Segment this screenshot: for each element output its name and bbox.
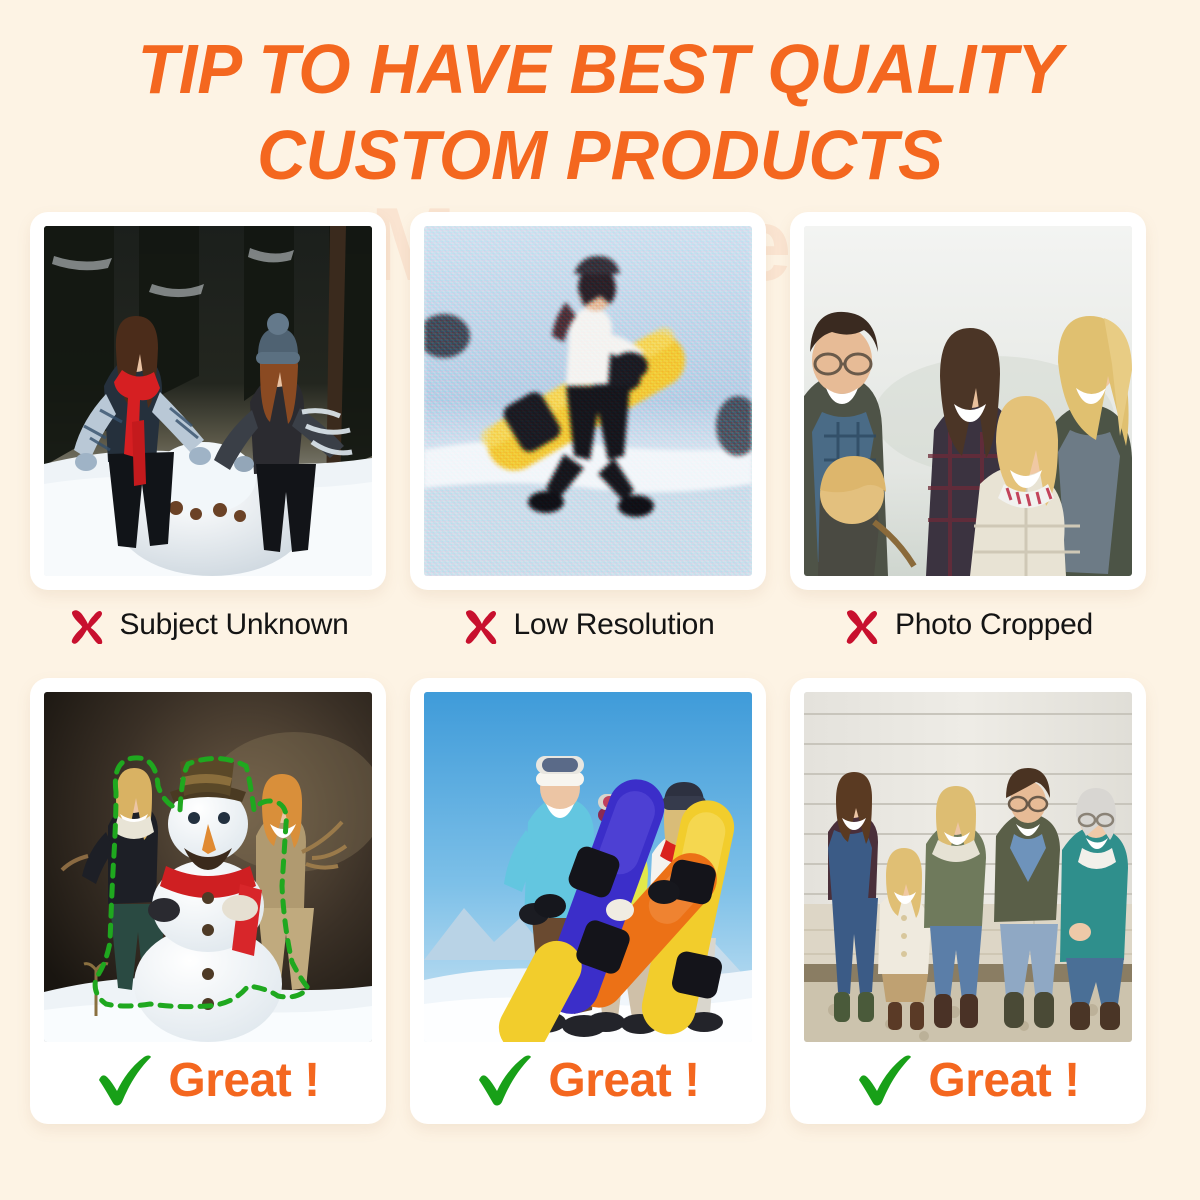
page-title-line-2: CUSTOM PRODUCTS (24, 112, 1176, 198)
caption-subject-unknown: Subject Unknown (30, 606, 386, 644)
page-title: TIP TO HAVE BEST QUALITY CUSTOM PRODUCTS (24, 0, 1176, 198)
photo-card (790, 212, 1146, 590)
photo-great-family (804, 692, 1132, 1042)
caption-low-resolution: Low Resolution (410, 606, 766, 644)
photo-low-resolution (424, 226, 752, 576)
example-cell-great-snowboarders: Great ! (410, 678, 766, 1124)
caption-photo-cropped: Photo Cropped (790, 606, 1146, 644)
page-title-line-1: TIP TO HAVE BEST QUALITY (24, 26, 1176, 112)
selection-outline (44, 692, 372, 1042)
caption-label: Great ! (548, 1053, 699, 1108)
example-cell-low-resolution: Low Resolution (410, 212, 766, 644)
red-cross-icon (843, 606, 881, 644)
caption-label: Great ! (928, 1053, 1079, 1108)
green-check-icon (856, 1052, 912, 1108)
photo-photo-cropped (804, 226, 1132, 576)
photo-subject-unknown (44, 226, 372, 576)
caption-great-snowboarders: Great ! (424, 1042, 752, 1116)
photo-card: Great ! (30, 678, 386, 1124)
caption-great-snowman: Great ! (44, 1042, 372, 1116)
caption-label: Low Resolution (514, 608, 715, 642)
example-cell-great-snowman: Great ! (30, 678, 386, 1124)
photo-card (410, 212, 766, 590)
photo-great-snowman (44, 692, 372, 1042)
photo-card: Great ! (790, 678, 1146, 1124)
photo-card: Great ! (410, 678, 766, 1124)
red-cross-icon (68, 606, 106, 644)
photo-great-snowboarders (424, 692, 752, 1042)
caption-label: Great ! (168, 1053, 319, 1108)
caption-label: Subject Unknown (120, 608, 349, 642)
noise-overlay (424, 226, 752, 576)
green-check-icon (476, 1052, 532, 1108)
photo-card (30, 212, 386, 590)
example-cell-photo-cropped: Photo Cropped (790, 212, 1146, 644)
examples-grid: Subject Unknown (0, 212, 1200, 1124)
red-cross-icon (462, 606, 500, 644)
green-check-icon (96, 1052, 152, 1108)
caption-great-family: Great ! (804, 1042, 1132, 1116)
example-cell-great-family: Great ! (790, 678, 1146, 1124)
example-cell-subject-unknown: Subject Unknown (30, 212, 386, 644)
caption-label: Photo Cropped (895, 608, 1093, 642)
